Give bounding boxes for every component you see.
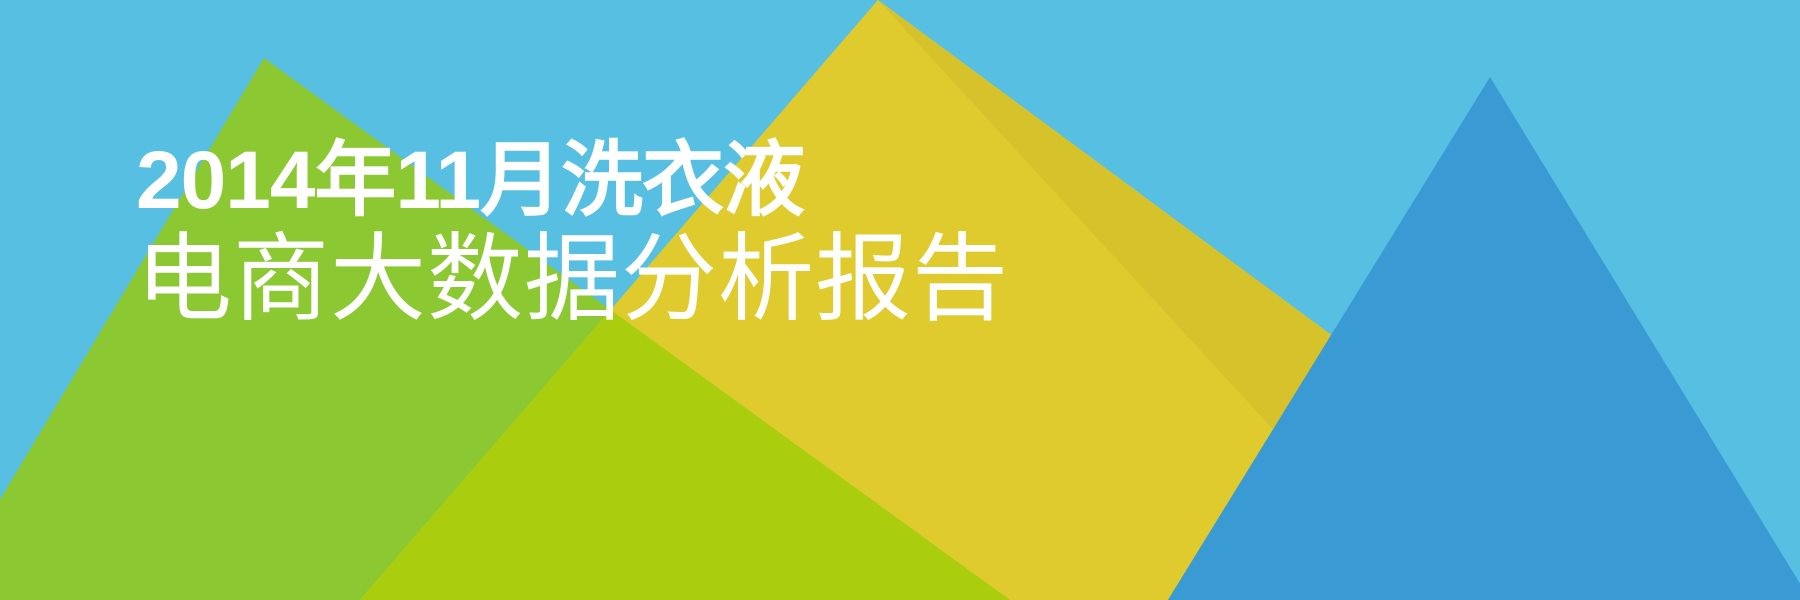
background-artwork bbox=[0, 0, 1800, 600]
title-slide: 2014年11月洗衣液 电商大数据分析报告 bbox=[0, 0, 1800, 600]
